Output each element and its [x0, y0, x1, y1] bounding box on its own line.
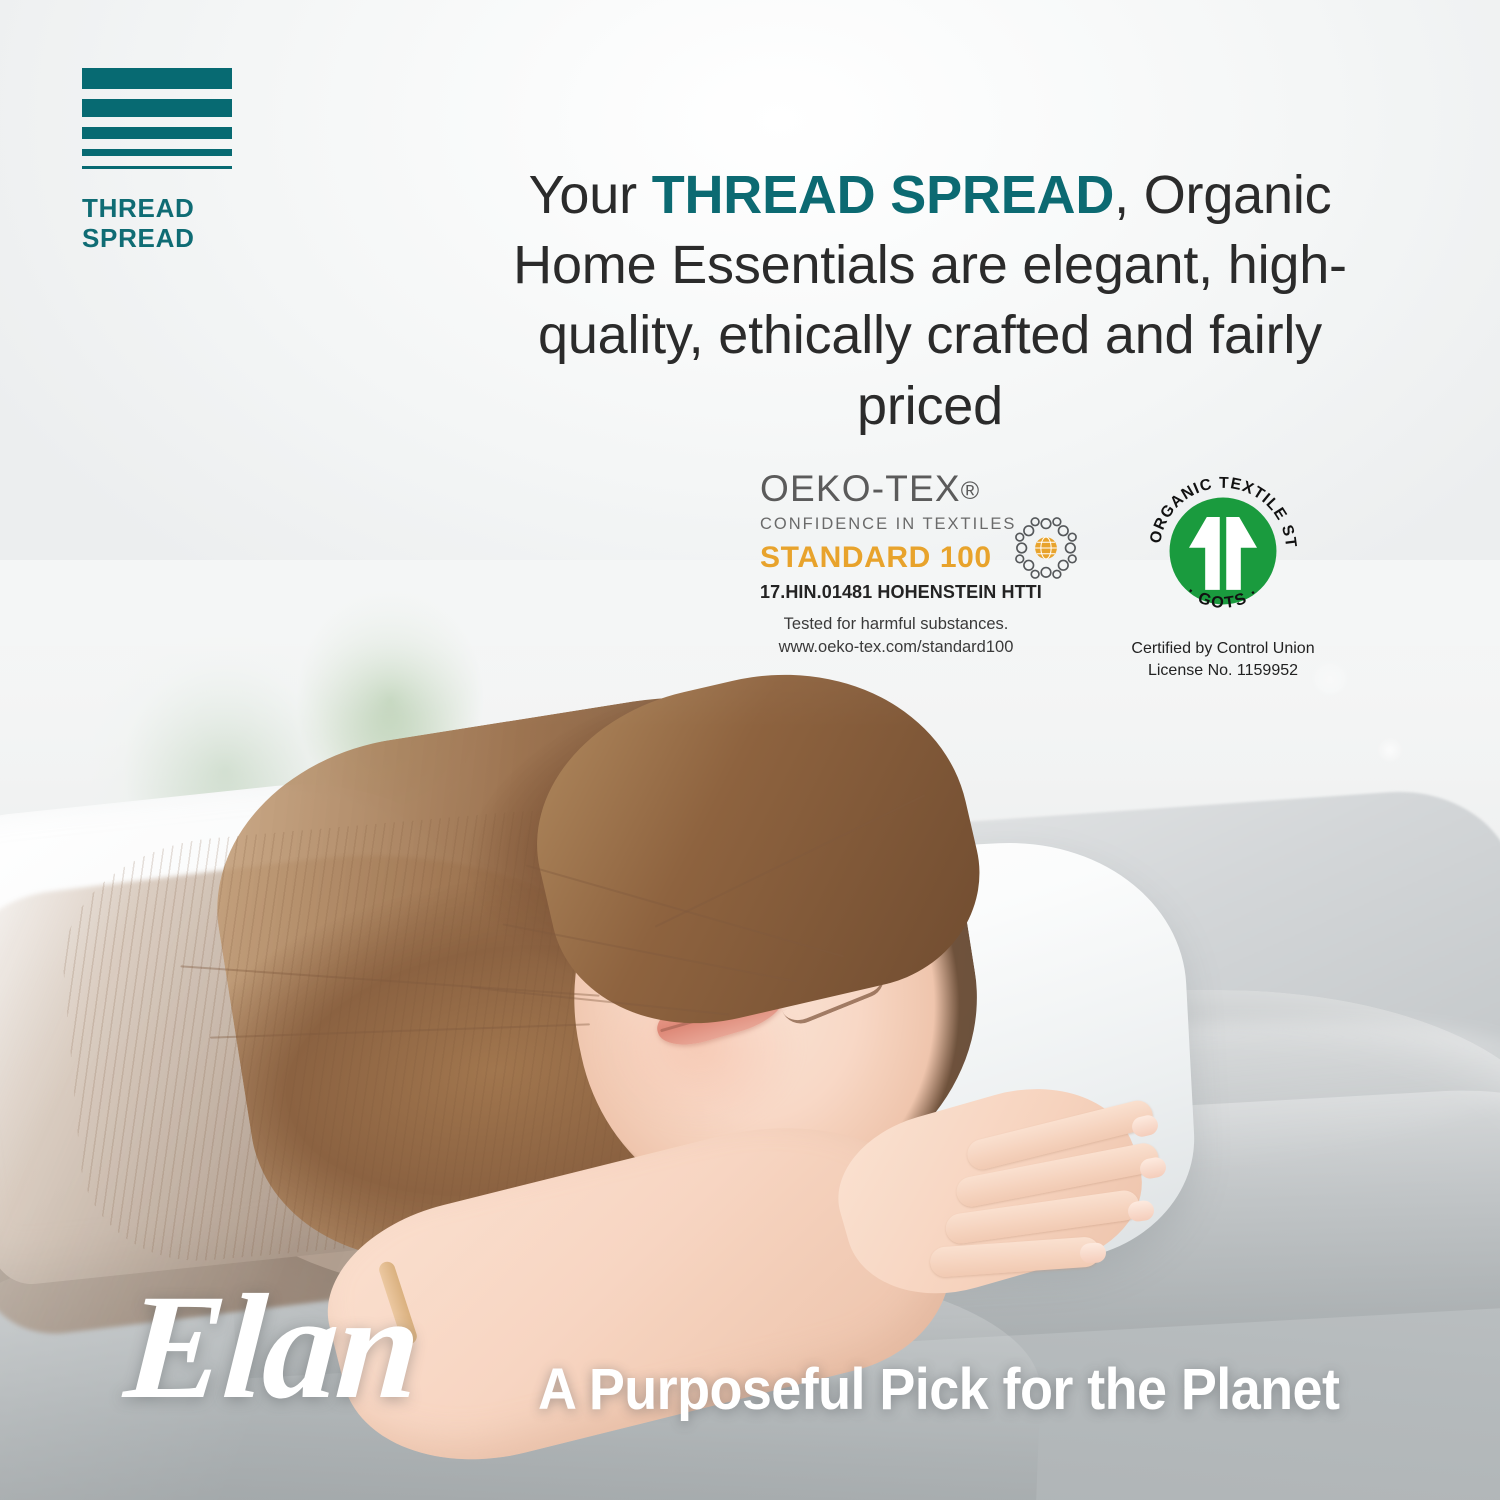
gots-badge: GLOBAL ORGANIC TEXTILE STANDARD · GOTS ·… — [1118, 470, 1328, 683]
logo-wordmark: THREAD SPREAD — [82, 193, 252, 254]
oeko-tex-note-line2: www.oeko-tex.com/standard100 — [760, 636, 1032, 659]
gots-caption-line1: Certified by Control Union — [1118, 638, 1328, 660]
oeko-tex-title: OEKO-TEX® — [760, 470, 1060, 507]
oeko-tex-note-line1: Tested for harmful substances. — [760, 613, 1032, 636]
gots-caption: Certified by Control Union License No. 1… — [1118, 638, 1328, 683]
product-marketing-image: THREAD SPREAD Your THREAD SPREAD, Organi… — [0, 0, 1500, 1500]
headline-prefix: Your — [529, 165, 652, 225]
oeko-tex-code: 17.HIN.01481 HOHENSTEIN HTTI — [760, 583, 1060, 601]
oeko-tex-note: Tested for harmful substances. www.oeko-… — [760, 613, 1032, 660]
certification-row: OEKO-TEX® CONFIDENCE IN TEXTILES STANDAR… — [760, 470, 1380, 683]
oeko-tex-badge: OEKO-TEX® CONFIDENCE IN TEXTILES STANDAR… — [760, 470, 1060, 659]
gots-logo-icon: GLOBAL ORGANIC TEXTILE STANDARD · GOTS · — [1142, 470, 1304, 632]
oeko-tex-flower-globe-icon — [1014, 516, 1078, 580]
logo-wordmark-line2: SPREAD — [82, 223, 252, 253]
brand-logo[interactable]: THREAD SPREAD — [82, 68, 252, 254]
gots-caption-line2: License No. 1159952 — [1118, 660, 1328, 682]
registered-mark-icon: ® — [961, 477, 981, 505]
logo-bars-icon — [82, 68, 232, 169]
logo-wordmark-line1: THREAD — [82, 193, 252, 223]
oeko-tex-name: OEKO-TEX — [760, 468, 961, 509]
product-name: Elan — [121, 1272, 424, 1422]
headline: Your THREAD SPREAD, Organic Home Essenti… — [470, 160, 1390, 441]
product-tagline: A Purposeful Pick for the Planet — [538, 1356, 1339, 1423]
headline-brand: THREAD SPREAD — [652, 165, 1114, 225]
